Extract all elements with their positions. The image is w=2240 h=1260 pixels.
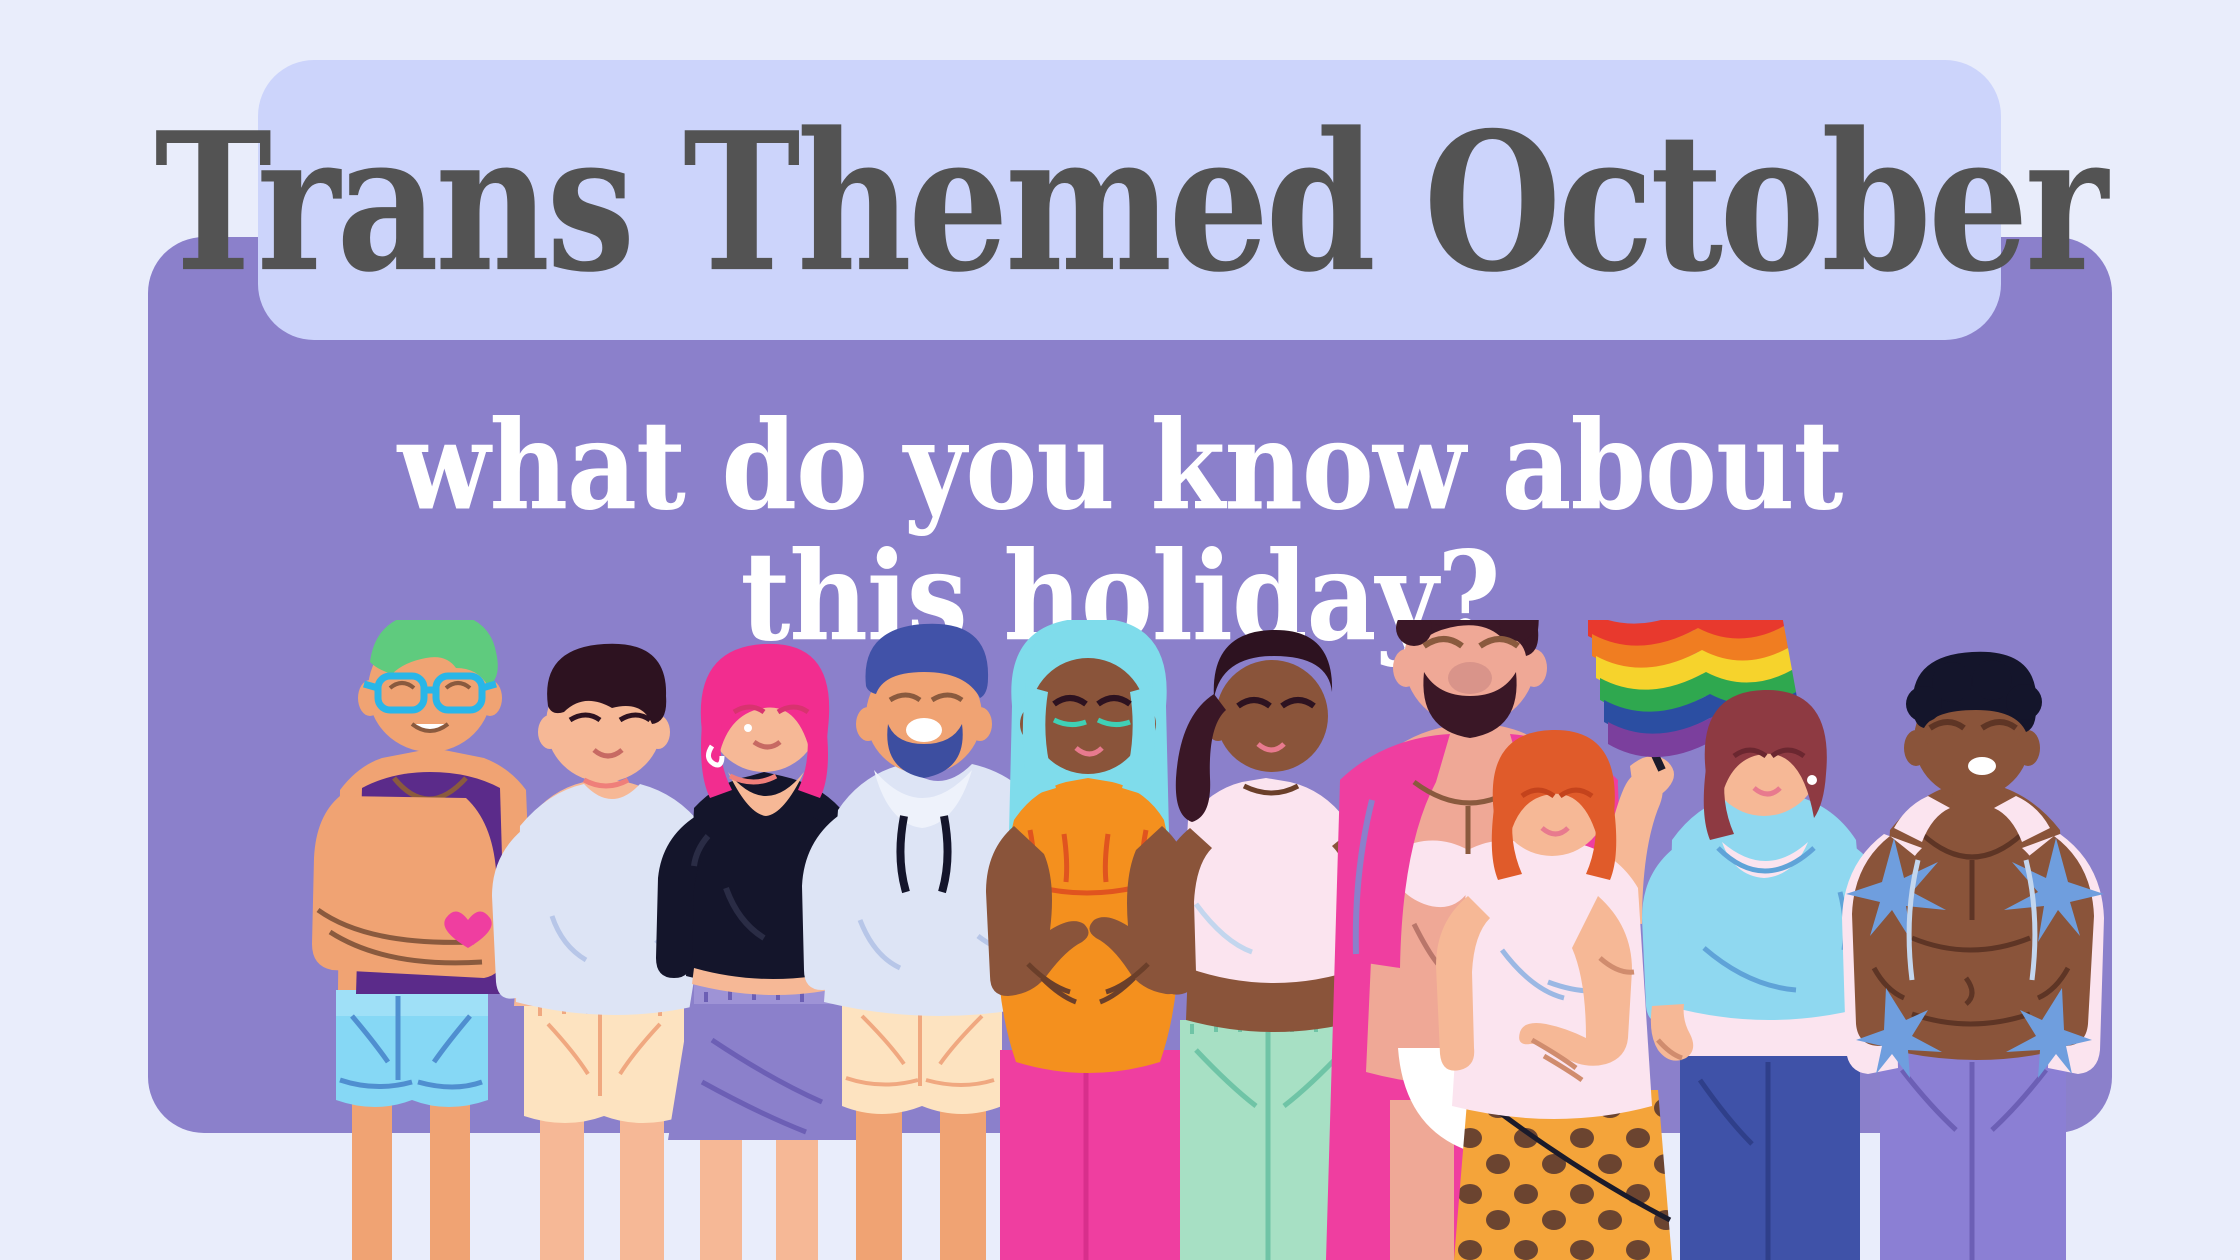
poster-canvas: what do you know about this holiday? bbox=[0, 0, 2240, 1260]
title-banner: Trans Themed October bbox=[258, 60, 2001, 340]
page-title: Trans Themed October bbox=[154, 108, 2104, 298]
person-10 bbox=[1842, 652, 2104, 1260]
people-illustration bbox=[0, 620, 2240, 1260]
